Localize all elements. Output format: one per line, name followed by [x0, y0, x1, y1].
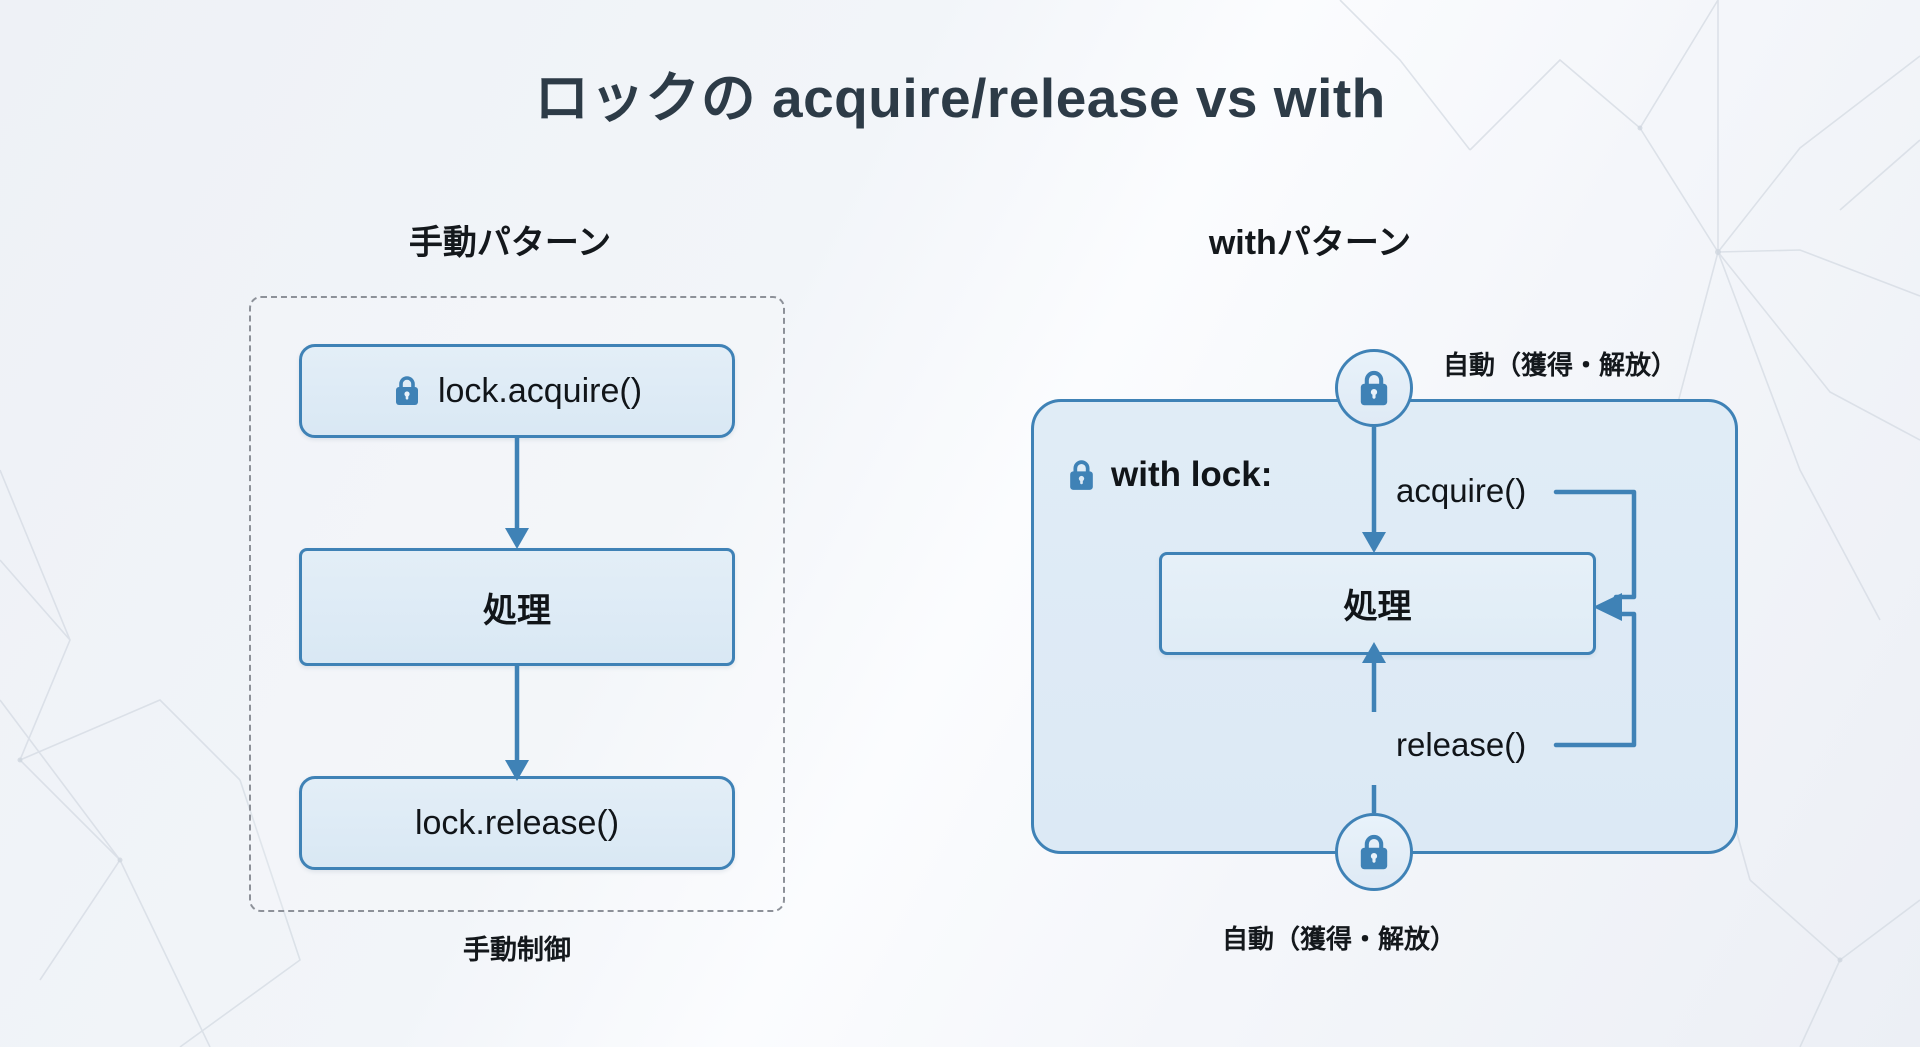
- step-process-manual-label: 処理: [483, 583, 551, 632]
- lock-badge-bottom: [1335, 813, 1413, 891]
- lock-icon: [1356, 832, 1392, 873]
- step-process-with[interactable]: 処理: [1159, 552, 1596, 655]
- annotation-auto-bottom: 自動（獲得・解放）: [1222, 919, 1456, 956]
- lock-icon: [392, 374, 422, 408]
- step-lock-release-label: lock.release(): [415, 804, 619, 843]
- lock-icon: [1356, 368, 1392, 409]
- with-pattern-header: withパターン: [1040, 225, 1580, 262]
- annotation-auto-top: 自動（獲得・解放）: [1443, 345, 1677, 382]
- edge-label-release: release(): [1396, 726, 1526, 764]
- step-process-manual[interactable]: 処理: [299, 548, 735, 666]
- step-process-with-label: 処理: [1344, 579, 1412, 628]
- edge-label-acquire: acquire(): [1396, 472, 1526, 510]
- page-title: ロックの acquire/release vs with: [0, 68, 1920, 129]
- with-lock-statement: with lock:: [1066, 455, 1272, 495]
- manual-pattern-header: 手動パターン: [300, 225, 720, 262]
- step-lock-acquire-label: lock.acquire(): [438, 372, 642, 411]
- with-lock-statement-label: with lock:: [1111, 455, 1272, 495]
- step-lock-acquire[interactable]: lock.acquire(): [299, 344, 735, 438]
- lock-badge-top: [1335, 349, 1413, 427]
- manual-pattern-caption: 手動制御: [249, 928, 785, 967]
- lock-icon: [1066, 458, 1097, 493]
- step-lock-release[interactable]: lock.release(): [299, 776, 735, 870]
